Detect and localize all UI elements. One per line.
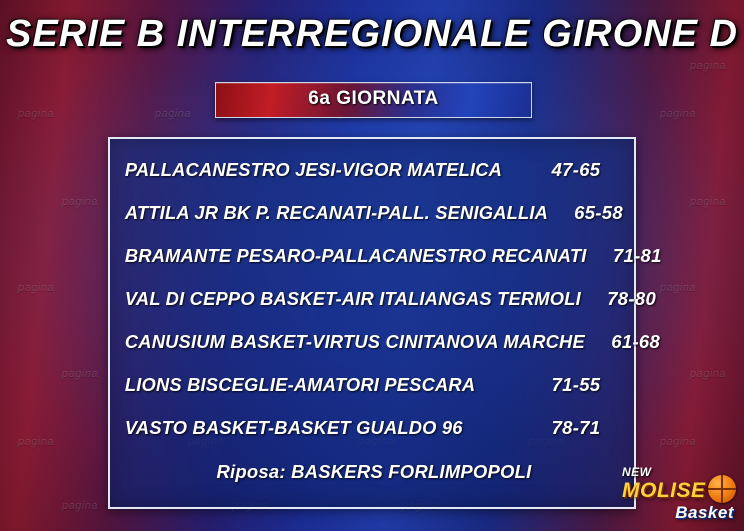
watermark-text: pagina (660, 436, 696, 448)
match-teams: VASTO BASKET-BASKET GUALDO 96 (110, 417, 526, 439)
match-teams: VAL DI CEPPO BASKET-AIR ITALIANGAS TERMO… (110, 288, 581, 310)
giornata-label: 6a GIORNATA (216, 83, 531, 115)
result-row: PALLACANESTRO JESI-VIGOR MATELICA47-65 (110, 148, 638, 191)
match-teams: LIONS BISCEGLIE-AMATORI PESCARA (110, 374, 526, 396)
watermark-text: pagina (18, 282, 54, 294)
watermark-text: pagina (155, 108, 191, 120)
match-score: 47-65 (530, 159, 638, 181)
result-row: ATTILA JR BK P. RECANATI-PALL. SENIGALLI… (110, 191, 638, 234)
riposa-label: Riposa: BASKERS FORLIMPOPOLI (110, 461, 638, 483)
match-teams: ATTILA JR BK P. RECANATI-PALL. SENIGALLI… (110, 202, 548, 224)
match-score: 78-80 (586, 288, 694, 310)
match-score: 65-58 (553, 202, 661, 224)
watermark-text: pagina (660, 108, 696, 120)
title-bar: SERIE B INTERREGIONALE GIRONE D (0, 8, 744, 60)
logo-line-basket: Basket (675, 503, 734, 523)
watermark-text: pagina (62, 500, 98, 512)
basketball-icon (708, 475, 736, 503)
match-teams: BRAMANTE PESARO-PALLACANESTRO RECANATI (110, 245, 587, 267)
results-panel: PALLACANESTRO JESI-VIGOR MATELICA47-65AT… (108, 137, 636, 509)
watermark-text: pagina (690, 196, 726, 208)
watermark-text: pagina (62, 368, 98, 380)
result-row: BRAMANTE PESARO-PALLACANESTRO RECANATI71… (110, 234, 638, 277)
match-score: 61-68 (590, 331, 698, 353)
logo-line-molise: MOLISE (622, 479, 706, 503)
watermark-text: pagina (690, 60, 726, 72)
match-score: 71-81 (591, 245, 699, 267)
match-score: 71-55 (530, 374, 638, 396)
match-teams: CANUSIUM BASKET-VIRTUS CINITANOVA MARCHE (110, 331, 585, 353)
watermark-text: pagina (62, 196, 98, 208)
result-row: VAL DI CEPPO BASKET-AIR ITALIANGAS TERMO… (110, 277, 638, 320)
new-molise-basket-logo: NEW MOLISE Basket (618, 465, 738, 527)
result-row: CANUSIUM BASKET-VIRTUS CINITANOVA MARCHE… (110, 320, 638, 363)
logo-line-new: NEW (622, 465, 652, 479)
watermark-text: pagina (18, 108, 54, 120)
graphic-canvas: paginapaginapaginapaginapaginapaginapagi… (0, 0, 744, 531)
results-list: PALLACANESTRO JESI-VIGOR MATELICA47-65AT… (110, 148, 638, 449)
page-title: SERIE B INTERREGIONALE GIRONE D (6, 13, 738, 55)
match-score: 78-71 (530, 417, 638, 439)
watermark-text: pagina (18, 436, 54, 448)
match-teams: PALLACANESTRO JESI-VIGOR MATELICA (110, 159, 526, 181)
giornata-banner: 6a GIORNATA (215, 82, 532, 118)
result-row: LIONS BISCEGLIE-AMATORI PESCARA71-55 (110, 363, 638, 406)
result-row: VASTO BASKET-BASKET GUALDO 9678-71 (110, 406, 638, 449)
watermark-text: pagina (690, 368, 726, 380)
